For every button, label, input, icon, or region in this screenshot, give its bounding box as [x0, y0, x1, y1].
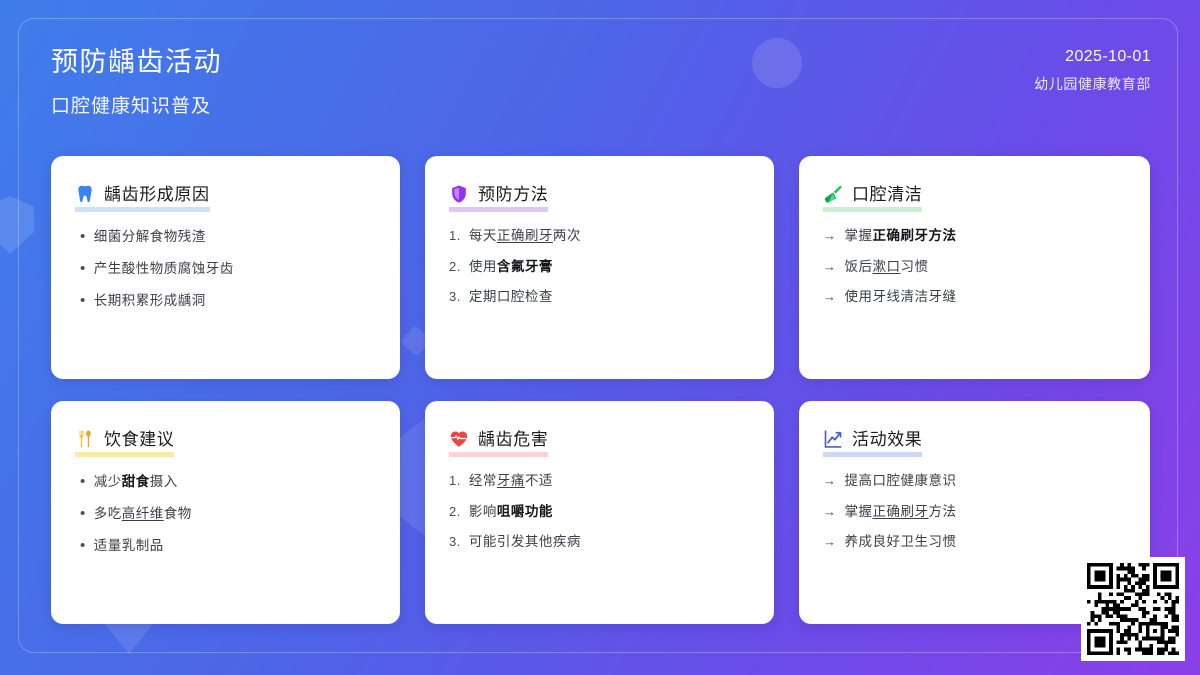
list-marker: 2. [449, 505, 461, 518]
list-item-text: 产生酸性物质腐蚀牙齿 [94, 262, 234, 276]
list-item-text: 定期口腔检查 [469, 290, 553, 304]
list-item: 3.可能引发其他疾病 [449, 535, 750, 549]
list-marker: → [823, 290, 837, 303]
tooth-icon [75, 184, 95, 204]
info-card: 龋齿危害1.经常牙痛不适2.影响咀嚼功能3.可能引发其他疾病 [425, 401, 774, 624]
slide-header: 预防龋齿活动 口腔健康知识普及 2025-10-01 幼儿园健康教育部 [0, 0, 1200, 140]
list-item-text: 掌握正确刷牙方法 [845, 229, 957, 243]
card-list: 1.经常牙痛不适2.影响咀嚼功能3.可能引发其他疾病 [449, 474, 750, 549]
list-marker: • [75, 229, 86, 244]
list-item: 3.定期口腔检查 [449, 290, 750, 304]
list-item-text: 长期积累形成龋洞 [94, 294, 206, 308]
list-item: →提高口腔健康意识 [823, 474, 1126, 488]
cards-grid: 龋齿形成原因•细菌分解食物残渣•产生酸性物质腐蚀牙齿•长期积累形成龋洞预防方法1… [51, 156, 1150, 624]
list-marker: • [75, 506, 86, 521]
header-department: 幼儿园健康教育部 [1034, 74, 1151, 94]
list-item-text: 多吃高纤维食物 [94, 507, 192, 521]
list-marker: → [823, 229, 837, 242]
card-header: 预防方法 [449, 180, 548, 212]
card-title: 龋齿形成原因 [104, 180, 210, 205]
header-left: 预防龋齿活动 口腔健康知识普及 [51, 46, 222, 118]
list-item: 2.使用含氟牙膏 [449, 260, 750, 274]
list-marker: 3. [449, 290, 461, 303]
list-marker: • [75, 261, 86, 276]
list-item-text: 减少甜食摄入 [94, 475, 178, 489]
page-subtitle: 口腔健康知识普及 [51, 91, 222, 118]
list-item: •减少甜食摄入 [75, 474, 376, 489]
list-marker: 1. [449, 474, 461, 487]
list-item: •长期积累形成龋洞 [75, 293, 376, 308]
list-marker: → [823, 260, 837, 273]
list-item: →掌握正确刷牙方法 [823, 505, 1126, 519]
card-title: 饮食建议 [104, 425, 174, 450]
shield-icon [449, 184, 469, 204]
list-item-text: 使用含氟牙膏 [469, 260, 553, 274]
shield-watermark-icon [0, 196, 34, 254]
broom-icon [823, 184, 843, 204]
heart-pulse-icon [449, 429, 469, 449]
list-item-text: 饭后漱口习惯 [845, 260, 929, 274]
list-item: 2.影响咀嚼功能 [449, 505, 750, 519]
list-item-text: 经常牙痛不适 [469, 474, 553, 488]
info-card: 龋齿形成原因•细菌分解食物残渣•产生酸性物质腐蚀牙齿•长期积累形成龋洞 [51, 156, 400, 379]
card-list: •减少甜食摄入•多吃高纤维食物•适量乳制品 [75, 474, 376, 553]
card-title: 龋齿危害 [478, 425, 548, 450]
list-item-text: 细菌分解食物残渣 [94, 230, 206, 244]
page-title: 预防龋齿活动 [51, 46, 222, 80]
card-header: 龋齿危害 [449, 425, 548, 457]
list-item: •多吃高纤维食物 [75, 506, 376, 521]
list-item: →饭后漱口习惯 [823, 260, 1126, 274]
list-item-text: 掌握正确刷牙方法 [845, 505, 957, 519]
list-item-text: 影响咀嚼功能 [469, 505, 553, 519]
list-marker: • [75, 293, 86, 308]
card-title: 活动效果 [852, 425, 922, 450]
chart-increasing-icon [823, 429, 843, 449]
card-header: 活动效果 [823, 425, 922, 457]
fork-knife-icon [75, 429, 95, 449]
list-item: →使用牙线清洁牙缝 [823, 290, 1126, 304]
card-list: →提高口腔健康意识→掌握正确刷牙方法→养成良好卫生习惯 [823, 474, 1126, 549]
card-title: 口腔清洁 [852, 180, 922, 205]
list-marker: → [823, 535, 837, 548]
list-marker: → [823, 505, 837, 518]
list-marker: → [823, 474, 837, 487]
list-item: →养成良好卫生习惯 [823, 535, 1126, 549]
card-header: 口腔清洁 [823, 180, 922, 212]
list-item-text: 每天正确刷牙两次 [469, 229, 581, 243]
card-header: 饮食建议 [75, 425, 174, 457]
card-list: 1.每天正确刷牙两次2.使用含氟牙膏3.定期口腔检查 [449, 229, 750, 304]
list-item-text: 使用牙线清洁牙缝 [845, 290, 957, 304]
list-item-text: 提高口腔健康意识 [845, 474, 957, 488]
list-item: →掌握正确刷牙方法 [823, 229, 1126, 243]
info-card: 饮食建议•减少甜食摄入•多吃高纤维食物•适量乳制品 [51, 401, 400, 624]
list-marker: 3. [449, 535, 461, 548]
list-item: •细菌分解食物残渣 [75, 229, 376, 244]
list-marker: 1. [449, 229, 461, 242]
header-date: 2025-10-01 [1034, 48, 1151, 66]
card-list: →掌握正确刷牙方法→饭后漱口习惯→使用牙线清洁牙缝 [823, 229, 1126, 304]
list-item-text: 可能引发其他疾病 [469, 535, 581, 549]
list-item-text: 适量乳制品 [94, 539, 164, 553]
info-card: 预防方法1.每天正确刷牙两次2.使用含氟牙膏3.定期口腔检查 [425, 156, 774, 379]
list-marker: • [75, 474, 86, 489]
list-item-text: 养成良好卫生习惯 [845, 535, 957, 549]
list-marker: • [75, 538, 86, 553]
list-item: •产生酸性物质腐蚀牙齿 [75, 261, 376, 276]
qr-code[interactable] [1081, 557, 1185, 661]
list-item: •适量乳制品 [75, 538, 376, 553]
card-list: •细菌分解食物残渣•产生酸性物质腐蚀牙齿•长期积累形成龋洞 [75, 229, 376, 308]
qr-code-image [1087, 563, 1179, 655]
list-item: 1.经常牙痛不适 [449, 474, 750, 488]
header-right: 2025-10-01 幼儿园健康教育部 [1034, 48, 1151, 94]
card-header: 龋齿形成原因 [75, 180, 210, 212]
card-title: 预防方法 [478, 180, 548, 205]
list-marker: 2. [449, 260, 461, 273]
info-card: 口腔清洁→掌握正确刷牙方法→饭后漱口习惯→使用牙线清洁牙缝 [799, 156, 1150, 379]
list-item: 1.每天正确刷牙两次 [449, 229, 750, 243]
